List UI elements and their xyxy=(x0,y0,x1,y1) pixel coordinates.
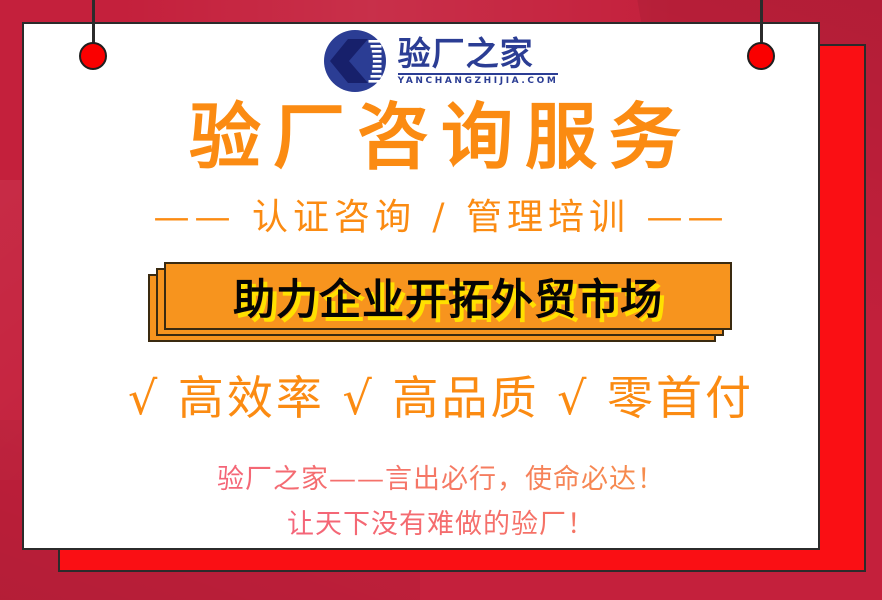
logo-company-name: 验厂之家 xyxy=(398,37,534,70)
banner-text: 助力企业开拓外贸市场 xyxy=(233,266,663,327)
page-subtitle: —— 认证咨询 / 管理培训 —— xyxy=(0,198,882,238)
logo-divider xyxy=(398,73,559,75)
highlight-banner: 助力企业开拓外贸市场 xyxy=(0,252,882,357)
banner-layer-front: 助力企业开拓外贸市场 xyxy=(164,262,732,330)
brand-logo: 验厂之家 YANCHANGZHIJIA.COM xyxy=(0,30,882,92)
page-title: 验厂咨询服务 xyxy=(0,101,882,173)
logo-text-block: 验厂之家 YANCHANGZHIJIA.COM xyxy=(398,37,559,86)
circle-chevron-stripes-logo-icon xyxy=(324,30,386,92)
promo-poster: 验厂之家 YANCHANGZHIJIA.COM 验厂咨询服务 —— 认证咨询 /… xyxy=(0,0,882,600)
logo-domain: YANCHANGZHIJIA.COM xyxy=(398,77,559,86)
feature-list: √ 高效率 √ 高品质 √ 零首付 xyxy=(0,373,882,424)
slogan-secondary: 让天下没有难做的验厂！ xyxy=(0,508,882,542)
slogan-primary: 验厂之家——言出必行，使命必达！ xyxy=(0,463,882,497)
